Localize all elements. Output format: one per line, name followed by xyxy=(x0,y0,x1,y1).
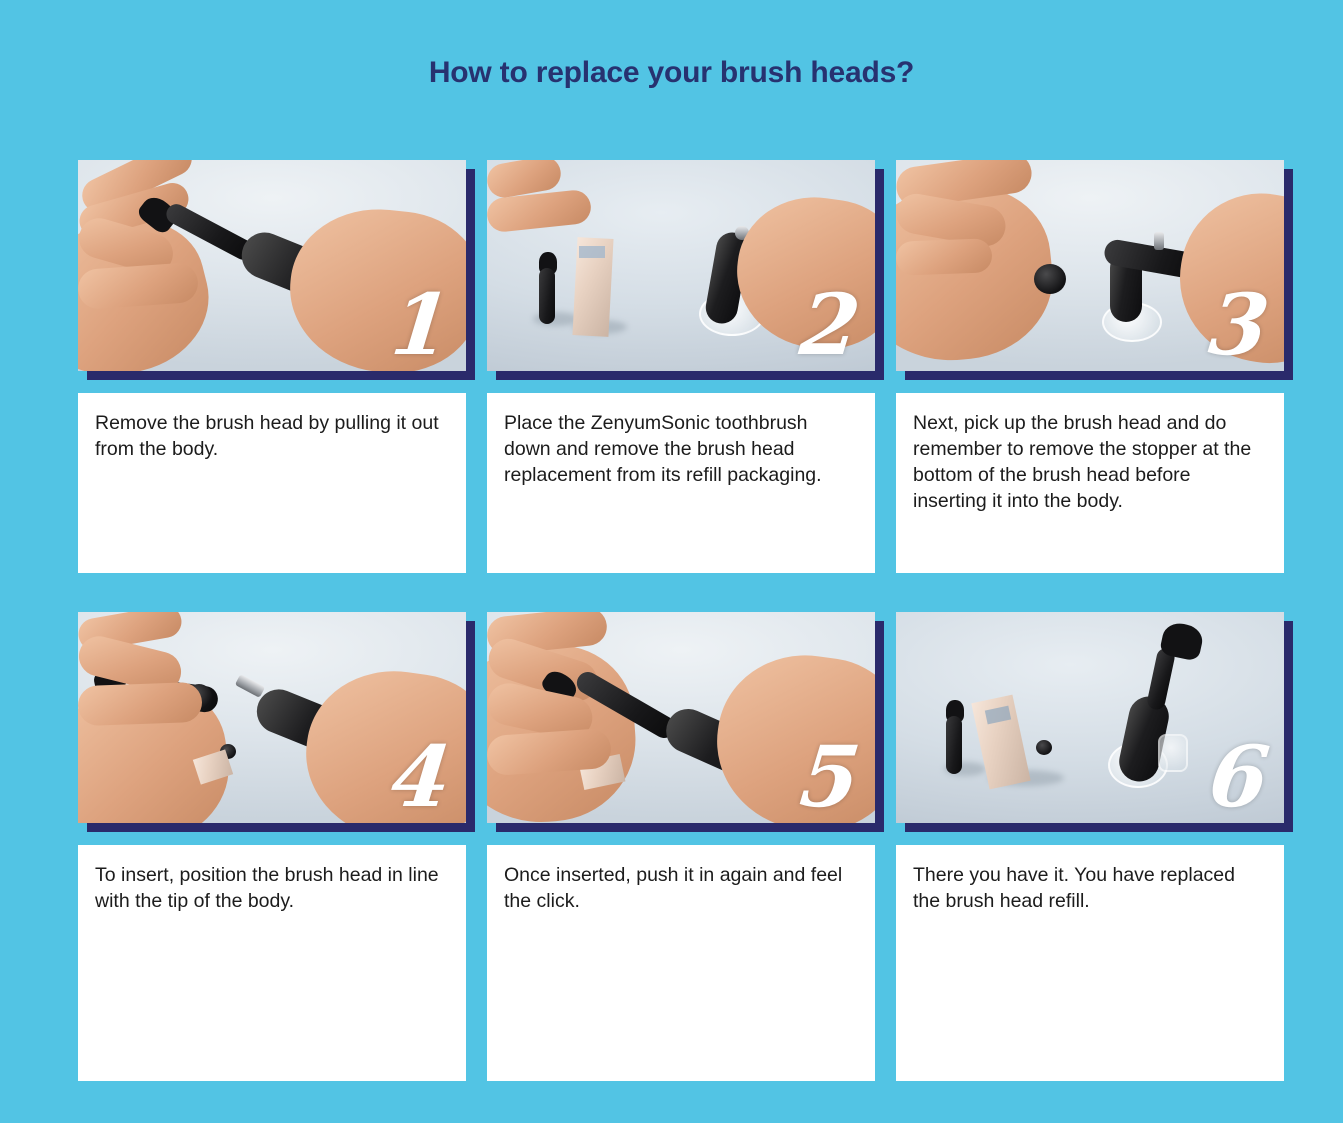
step-photo-3: 3 xyxy=(896,160,1284,371)
photo-scene-remove-stopper xyxy=(896,160,1284,371)
step-caption: Once inserted, push it in again and feel… xyxy=(487,845,875,1081)
photo-frame xyxy=(78,160,466,371)
photo-scene-remove-head xyxy=(78,160,466,371)
step-caption: There you have it. You have replaced the… xyxy=(896,845,1284,1081)
step-photo-6: 6 xyxy=(896,612,1284,823)
step-photo-2: 2 xyxy=(487,160,875,371)
photo-frame xyxy=(78,612,466,823)
step-caption: Place the ZenyumSonic toothbrush down an… xyxy=(487,393,875,573)
infographic-page: How to replace your brush heads? xyxy=(0,0,1343,1123)
step-caption: Next, pick up the brush head and do reme… xyxy=(896,393,1284,573)
photo-scene-push-click xyxy=(487,612,875,823)
step-photo-4: 4 xyxy=(78,612,466,823)
step-card-2: 2 Place the ZenyumSonic toothbrush down … xyxy=(487,160,875,612)
step-photo-5: 5 xyxy=(487,612,875,823)
photo-frame xyxy=(487,612,875,823)
page-title: How to replace your brush heads? xyxy=(0,56,1343,90)
photo-frame xyxy=(896,612,1284,823)
step-card-3: 3 Next, pick up the brush head and do re… xyxy=(896,160,1284,612)
step-caption: To insert, position the brush head in li… xyxy=(78,845,466,1081)
photo-frame xyxy=(896,160,1284,371)
photo-frame xyxy=(487,160,875,371)
steps-row-top: 1 Remove the brush head by pulling it ou… xyxy=(78,160,1277,612)
step-caption: Remove the brush head by pulling it out … xyxy=(78,393,466,573)
step-card-1: 1 Remove the brush head by pulling it ou… xyxy=(78,160,466,612)
steps-grid: 1 Remove the brush head by pulling it ou… xyxy=(78,160,1277,612)
step-photo-1: 1 xyxy=(78,160,466,371)
photo-scene-finished xyxy=(896,612,1284,823)
photo-scene-align-head xyxy=(78,612,466,823)
photo-scene-open-refill xyxy=(487,160,875,371)
